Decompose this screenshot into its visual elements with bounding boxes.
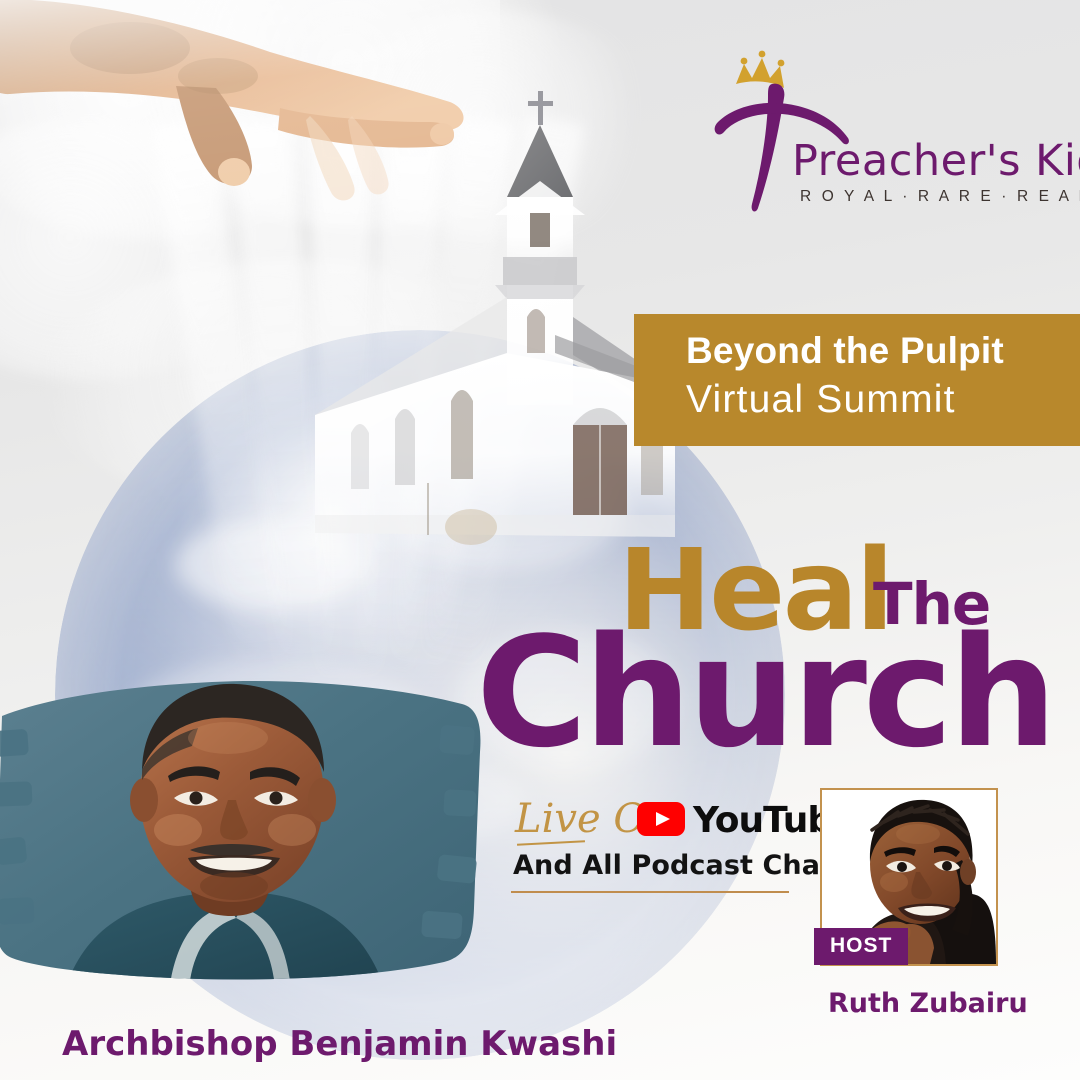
- speaker-portrait: [0, 660, 492, 1000]
- speaker-name: Archbishop Benjamin Kwashi: [62, 1024, 617, 1064]
- banner-subtitle: Virtual Summit: [686, 378, 956, 422]
- gold-divider: [511, 891, 789, 893]
- play-triangle-icon: [656, 812, 670, 826]
- promo-poster: Preacher's Kid R O Y A L · R A R E · R E…: [0, 0, 1080, 1080]
- reaching-hand-image: [0, 0, 500, 250]
- brand-logo: Preacher's Kid R O Y A L · R A R E · R E…: [700, 48, 1030, 218]
- speaker-block: [0, 660, 512, 1080]
- host-name: Ruth Zubairu: [828, 988, 1028, 1019]
- youtube-icon[interactable]: [637, 802, 685, 836]
- brand-wordmark: Preacher's Kid: [792, 136, 1080, 186]
- broadcast-block: Live On YouTube And All Podcast Channels: [505, 790, 805, 905]
- host-badge: HOST: [814, 928, 908, 965]
- banner-title: Beyond the Pulpit: [686, 330, 1004, 372]
- host-block: HOST Ruth Zubairu: [820, 788, 1030, 1023]
- brand-tagline: R O Y A L · R A R E · R E A D Y: [800, 188, 1080, 206]
- summit-banner: Beyond the Pulpit Virtual Summit: [634, 314, 1080, 446]
- headline-word-church: Church: [476, 617, 1053, 769]
